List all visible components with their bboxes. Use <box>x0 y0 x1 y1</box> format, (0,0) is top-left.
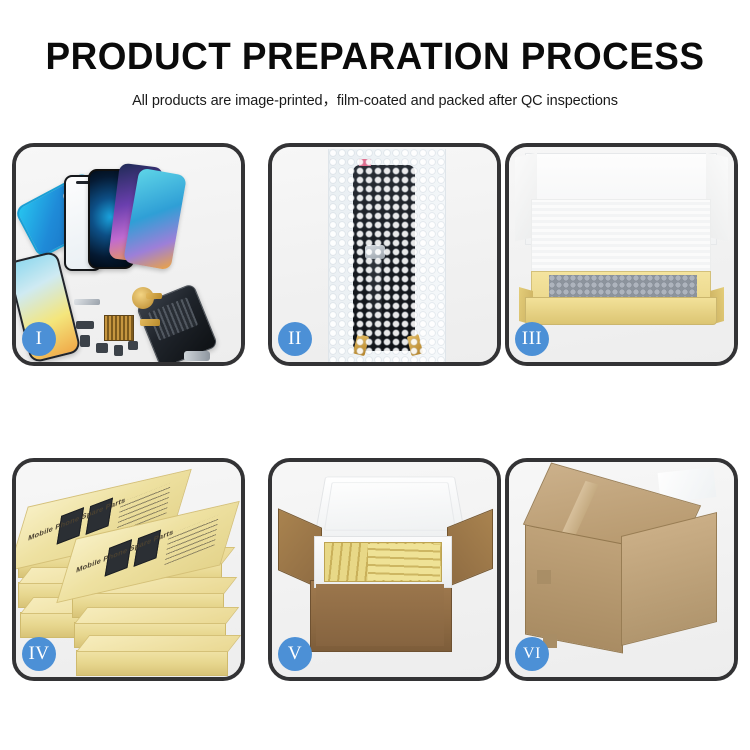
gold-contact-strip <box>140 319 160 326</box>
yellow-inner-boxes-row2 <box>368 544 440 580</box>
carton-handle-tab-top <box>537 570 551 584</box>
process-step-1: I <box>12 143 245 366</box>
carton-side-face <box>621 512 717 646</box>
step-badge-3: III <box>515 322 549 356</box>
process-step-5: V <box>268 458 501 681</box>
spare-parts-cluster <box>74 287 204 365</box>
vibration-motor <box>96 343 108 353</box>
step-badge-1: I <box>22 322 56 356</box>
antenna-strip <box>74 299 100 305</box>
spec-text-lines <box>164 515 218 565</box>
step-badge-5: V <box>278 637 312 671</box>
carton-front-panel <box>316 584 444 646</box>
flex-cable-part <box>76 321 94 329</box>
foam-lid <box>314 477 466 539</box>
step-badge-4: IV <box>22 637 56 671</box>
tray-front-face <box>525 297 717 325</box>
process-step-6: VI <box>505 458 738 681</box>
power-flex-button <box>146 293 162 299</box>
process-step-2: II <box>268 143 501 366</box>
sim-tray <box>114 345 123 356</box>
ic-chip-array <box>104 315 134 341</box>
white-foam-sheet <box>531 199 711 281</box>
screwdriver-tool <box>184 351 210 361</box>
bubble-wrap-bag <box>328 149 446 366</box>
process-step-3: III <box>505 143 738 366</box>
process-step-grid: I II <box>0 0 750 750</box>
step-badge-6: VI <box>515 637 549 671</box>
process-step-4: Mobile Phone Spare Parts Mobile Phone Sp… <box>12 458 245 681</box>
carton-front-face <box>525 524 623 653</box>
step-badge-2: II <box>278 322 312 356</box>
product-preparation-infographic: PRODUCT PREPARATION PROCESS All products… <box>0 0 750 750</box>
kraft-box-layer <box>76 650 228 676</box>
ear-speaker <box>128 341 138 350</box>
camera-module <box>80 335 90 347</box>
bubble-texture <box>329 149 445 366</box>
